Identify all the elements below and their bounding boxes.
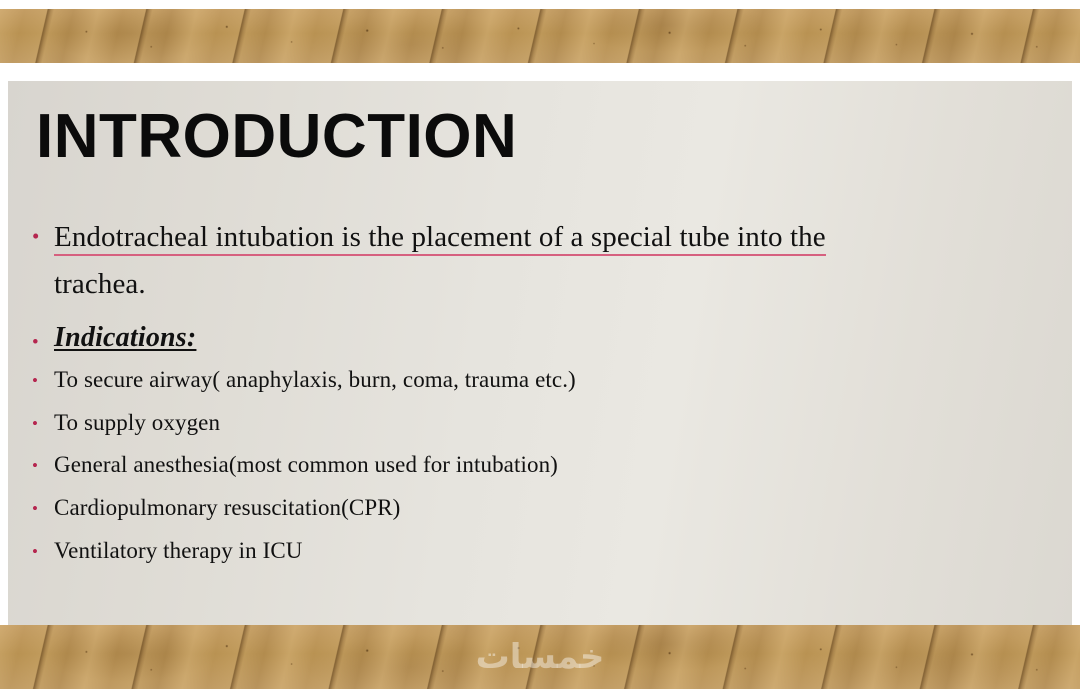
list-item: • General anesthesia(most common used fo…: [32, 449, 1052, 482]
wood-knots-icon: [0, 625, 1080, 689]
section-heading-text: Indications:: [54, 322, 196, 354]
presentation-slide: INTRODUCTION • Endotracheal intubation i…: [0, 0, 1080, 689]
slide-content-panel: INTRODUCTION • Endotracheal intubation i…: [8, 81, 1072, 625]
bullet-list: • Endotracheal intubation is the placeme…: [32, 214, 1052, 577]
list-item: • To supply oxygen: [32, 407, 1052, 440]
list-item: • Ventilatory therapy in ICU: [32, 535, 1052, 568]
list-item-label: To secure airway( anaphylaxis, burn, com…: [54, 364, 576, 397]
lead-bullet-line-2: trachea.: [54, 268, 146, 300]
page-title: INTRODUCTION: [36, 106, 517, 168]
list-item: • Cardiopulmonary resuscitation(CPR): [32, 492, 1052, 525]
list-item-label: Ventilatory therapy in ICU: [54, 535, 303, 568]
lead-bullet-line-1: Endotracheal intubation is the placement…: [54, 221, 826, 256]
list-item-label: Cardiopulmonary resuscitation(CPR): [54, 492, 400, 525]
bullet-dot-icon: •: [32, 322, 54, 352]
list-item: • To secure airway( anaphylaxis, burn, c…: [32, 364, 1052, 397]
bullet-dot-icon: •: [32, 492, 54, 517]
wood-knots-icon: [0, 9, 1080, 63]
bullet-dot-icon: •: [32, 407, 54, 432]
wood-banner-bottom: [0, 625, 1080, 689]
bullet-dot-icon: •: [32, 364, 54, 389]
bullet-dot-icon: •: [32, 214, 54, 247]
bullet-dot-icon: •: [32, 535, 54, 560]
wood-banner-top: [0, 9, 1080, 63]
lead-bullet-text: Endotracheal intubation is the placement…: [54, 214, 826, 308]
list-item-label: General anesthesia(most common used for …: [54, 449, 558, 482]
bullet-dot-icon: •: [32, 449, 54, 474]
list-item-lead: • Endotracheal intubation is the placeme…: [32, 214, 1052, 308]
list-item-label: To supply oxygen: [54, 407, 220, 440]
list-item-section-heading: • Indications:: [32, 322, 1052, 354]
